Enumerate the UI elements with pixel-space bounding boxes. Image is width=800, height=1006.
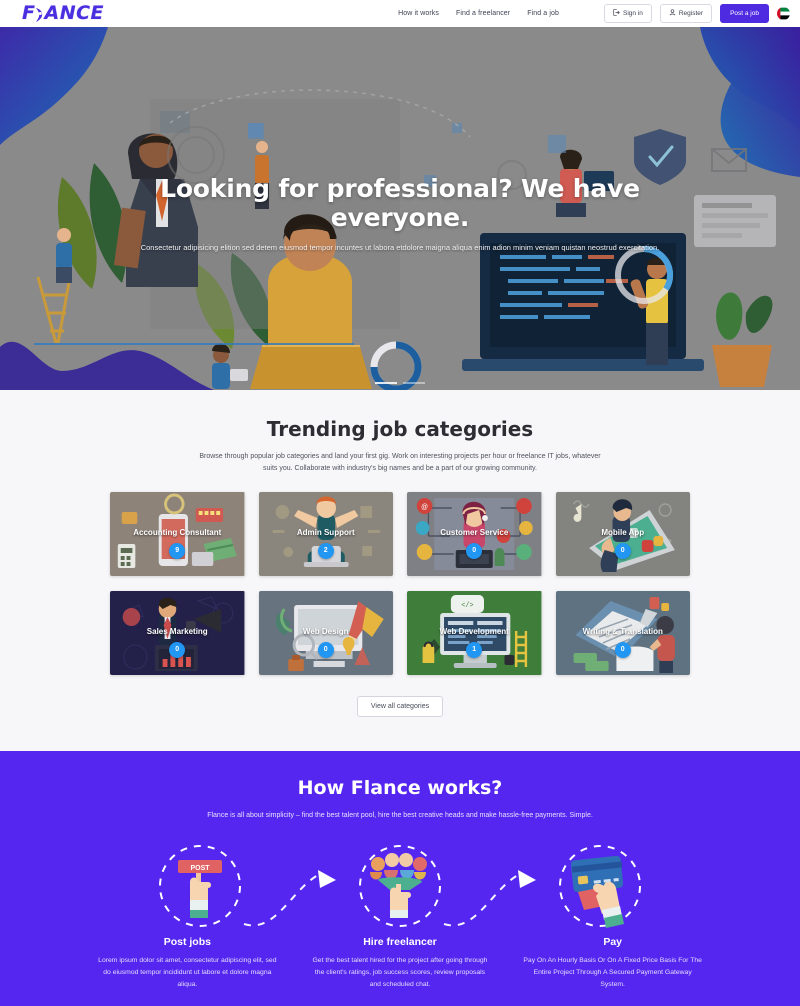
category-count-badge: 9: [169, 543, 185, 559]
how-it-works-section: How Flance works? Flance is all about si…: [0, 751, 800, 1006]
hero-title: Looking for professional? We have everyo…: [110, 175, 690, 233]
carousel-dot-2[interactable]: [403, 382, 425, 384]
categories-title: Trending job categories: [0, 417, 800, 441]
sign-in-button[interactable]: Sign in: [604, 4, 652, 23]
flance-swoosh-logo-icon: [34, 6, 45, 22]
category-card-admin-support[interactable]: Admin Support 2: [259, 492, 394, 576]
nav-item-find-a-job[interactable]: Find a job: [527, 10, 559, 17]
step-post-jobs: Post jobs Lorem ipsum dolor sit amet, co…: [90, 936, 285, 991]
nav-item-how-it-works[interactable]: How it works: [398, 10, 439, 17]
category-count-badge: 0: [615, 642, 631, 658]
view-all-categories-button[interactable]: View all categories: [357, 696, 443, 717]
nav-item-find-a-freelancer[interactable]: Find a freelancer: [456, 10, 510, 17]
site-logo[interactable]: F ANCE: [22, 4, 104, 23]
step-heading: Pay: [515, 936, 710, 948]
register-label: Register: [679, 10, 703, 17]
how-it-works-title: How Flance works?: [0, 777, 800, 799]
sign-in-label: Sign in: [623, 10, 643, 17]
category-label: Web Development: [407, 627, 542, 636]
category-count-badge: 0: [466, 543, 482, 559]
site-header: F ANCE How it works Find a freelancer Fi…: [0, 0, 800, 27]
post-button-hand-icon: POST: [178, 860, 222, 918]
how-it-works-steps: Post jobs Lorem ipsum dolor sit amet, co…: [90, 936, 710, 991]
how-it-works-diagram: POST: [0, 838, 800, 934]
how-it-works-subtitle: Flance is all about simplicity – find th…: [200, 810, 600, 822]
step-hire-freelancer: Hire freelancer Get the best talent hire…: [303, 936, 498, 991]
category-card-web-design[interactable]: Web Design 0: [259, 591, 394, 675]
sign-in-icon: [613, 9, 620, 18]
category-card-customer-service[interactable]: @ Customer Service: [407, 492, 542, 576]
category-label: Accounting Consultant: [110, 528, 245, 537]
view-all-wrapper: View all categories: [0, 695, 800, 717]
category-label: Sales Marketing: [110, 627, 245, 636]
category-count-badge: 0: [318, 642, 334, 658]
main-nav: How it works Find a freelancer Find a jo…: [398, 4, 790, 23]
category-count-badge: 0: [169, 642, 185, 658]
hero-content: Looking for professional? We have everyo…: [0, 175, 800, 253]
categories-grid: Accounting Consultant 9: [110, 492, 690, 675]
category-card-web-development[interactable]: </> Web Development: [407, 591, 542, 675]
category-card-accounting-consultant[interactable]: Accounting Consultant 9: [110, 492, 245, 576]
category-card-writing-translation[interactable]: Writing & Translation 0: [556, 591, 691, 675]
post-a-job-button[interactable]: Post a job: [720, 4, 769, 23]
category-card-mobile-app[interactable]: Mobile App 0: [556, 492, 691, 576]
nav-actions: Sign in Register Post a job: [604, 4, 790, 23]
svg-text:@: @: [421, 503, 428, 510]
category-count-badge: 1: [466, 642, 482, 658]
carousel-dot-1[interactable]: [375, 382, 397, 384]
user-icon: [669, 9, 676, 18]
credit-card-hand-icon: [570, 855, 624, 928]
hero-subtitle: Consectetur adipisicing elition sed dete…: [110, 242, 690, 254]
category-label: Writing & Translation: [556, 627, 691, 636]
step-pay: Pay Pay On An Hourly Basis Or On A Fixed…: [515, 936, 710, 991]
category-card-sales-marketing[interactable]: Sales Marketing 0: [110, 591, 245, 675]
uae-flag-icon[interactable]: [777, 7, 790, 20]
svg-text:POST: POST: [190, 865, 210, 872]
category-count-badge: 2: [318, 543, 334, 559]
step-text: Get the best talent hired for the projec…: [303, 955, 498, 991]
category-label: Admin Support: [259, 528, 394, 537]
select-people-hand-icon: [370, 853, 427, 918]
logo-text-first: F: [22, 4, 35, 23]
categories-subtitle: Browse through popular job categories an…: [195, 451, 605, 476]
step-text: Pay On An Hourly Basis Or On A Fixed Pri…: [515, 955, 710, 991]
category-label: Web Design: [259, 627, 394, 636]
register-button[interactable]: Register: [660, 4, 712, 23]
hero-banner: Looking for professional? We have everyo…: [0, 27, 800, 390]
step-text: Lorem ipsum dolor sit amet, consectetur …: [90, 955, 285, 991]
category-label: Mobile App: [556, 528, 691, 537]
hero-carousel-indicators: [0, 382, 800, 384]
category-count-badge: 0: [615, 543, 631, 559]
trending-categories-section: Trending job categories Browse through p…: [0, 390, 800, 751]
svg-text:</>: </>: [461, 601, 473, 609]
step-heading: Post jobs: [90, 936, 285, 948]
step-heading: Hire freelancer: [303, 936, 498, 948]
category-label: Customer Service: [407, 528, 542, 537]
logo-text-rest: ANCE: [44, 4, 104, 23]
